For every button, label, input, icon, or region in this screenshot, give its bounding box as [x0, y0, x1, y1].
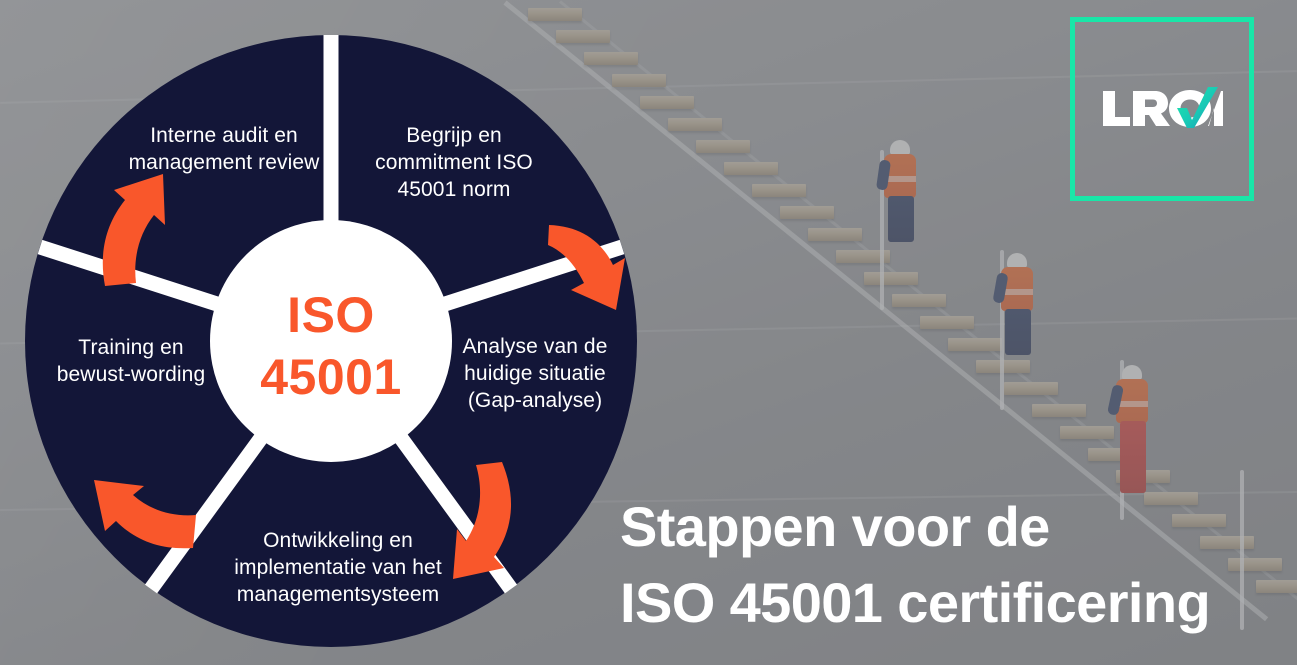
segment-label-analyse-huidige-situatie: Analyse van de huidige situatie (Gap-ana…	[442, 333, 628, 414]
segment-label-begrijp-en-commitment: Begrijp en commitment ISO 45001 norm	[354, 122, 554, 203]
segment-label-ontwikkeling-implementatie: Ontwikkeling en implementatie van het ma…	[214, 527, 462, 608]
segment-label-training-bewustwording: Training en bewust-wording	[48, 334, 214, 388]
lrqa-logo-icon	[1101, 86, 1223, 132]
hub-label-line2: 45001	[211, 346, 451, 408]
hub-label: ISO 45001	[211, 284, 451, 408]
headline-line-1: Stappen voor de	[620, 489, 1290, 565]
hub-label-line1: ISO	[211, 284, 451, 346]
lrqa-logo	[1070, 17, 1254, 201]
headline-line-2: ISO 45001 certificering	[620, 565, 1290, 641]
headline: Stappen voor de ISO 45001 certificering	[620, 489, 1290, 641]
poster-canvas: ISO 45001 Begrijp en commitment ISO 4500…	[0, 0, 1297, 665]
process-wheel: ISO 45001 Begrijp en commitment ISO 4500…	[24, 34, 638, 648]
segment-label-interne-audit-management-review: Interne audit en management review	[120, 122, 328, 176]
